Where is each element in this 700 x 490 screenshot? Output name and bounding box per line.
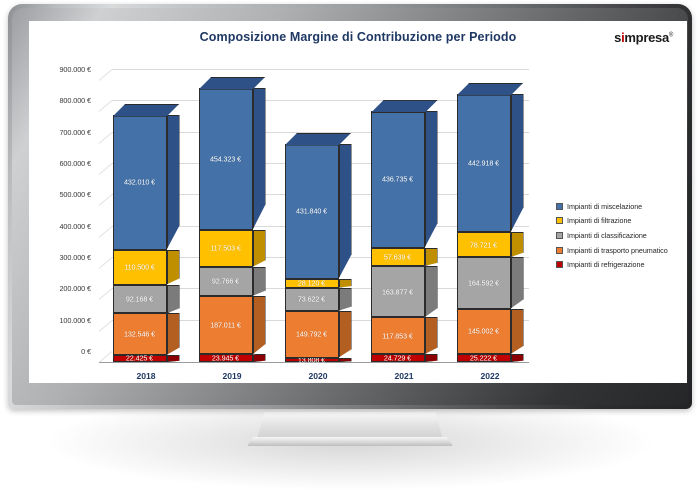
y-axis-tick-label: 100.000 € (29, 316, 91, 325)
y-axis-tick-label: 600.000 € (29, 159, 91, 168)
bar-segment-side-face (511, 309, 524, 354)
bar-segment[interactable]: 454.323 € (199, 88, 253, 230)
monitor-bezel: Composizione Margine di Contribuzione pe… (8, 4, 692, 409)
bar-segment[interactable]: 432.010 € (113, 115, 167, 250)
bar-segment[interactable]: 23.945 € (199, 354, 253, 362)
bar-segment[interactable]: 442.918 € (457, 94, 511, 233)
y-axis-tick-label: 400.000 € (29, 222, 91, 231)
bar-segment-side-face (425, 266, 438, 317)
bar-segment-side-face (253, 88, 266, 230)
bar-segment-value-label: 92.766 € (199, 277, 253, 286)
bar-segment[interactable]: 25.222 € (457, 354, 511, 362)
y-axis-tick-label: 0 € (29, 347, 91, 356)
bar-segment-value-label: 92.168 € (113, 295, 167, 304)
x-axis-category-label: 2019 (197, 371, 267, 381)
bar-segment-side-face (167, 115, 180, 250)
gridline-depth (99, 320, 113, 332)
bar-segment-value-label: 187.011 € (199, 321, 253, 330)
bar-segment-value-label: 454.323 € (199, 154, 253, 163)
bar-segment-side-face (425, 354, 438, 362)
monitor-stand-neck (257, 412, 443, 440)
bar-segment-side-face (511, 354, 524, 362)
gridline-depth (99, 257, 113, 269)
bar-segment-side-face (339, 144, 352, 279)
bar-segment[interactable]: 145.002 € (457, 309, 511, 354)
bar-segment[interactable]: 22.425 € (113, 355, 167, 362)
bar-segment-side-face (511, 257, 524, 309)
bar-segment-value-label: 23.945 € (199, 354, 253, 363)
bar-segment[interactable]: 92.766 € (199, 267, 253, 296)
bar-segment-value-label: 117.853 € (371, 331, 425, 340)
bar-segment-value-label: 117.503 € (199, 244, 253, 253)
bar-segment-side-face (167, 313, 180, 355)
bar-segment-side-face (167, 285, 180, 314)
gridline-depth (99, 163, 113, 175)
bar-segment-value-label: 132.546 € (113, 330, 167, 339)
bar-segment-side-face (339, 279, 352, 288)
bar-segment-value-label: 22.425 € (113, 354, 167, 363)
bar-segment[interactable]: 24.729 € (371, 354, 425, 362)
bar-segment[interactable]: 431.840 € (285, 144, 339, 279)
bar-segment-value-label: 28.120 € (285, 279, 339, 288)
y-axis-tick-label: 700.000 € (29, 128, 91, 137)
bar-segment[interactable]: 13.808 € (285, 358, 339, 362)
bar-segment-value-label: 145.002 € (457, 327, 511, 336)
bar-segment-side-face (253, 267, 266, 296)
legend-item-label: Impianti di refrigerazione (567, 260, 644, 269)
bar-segment[interactable]: 117.503 € (199, 230, 253, 267)
bar-segment-side-face (253, 354, 266, 362)
monitor-screen: Composizione Margine di Contribuzione pe… (29, 21, 687, 383)
legend-item[interactable]: Impianti di miscelazione (556, 199, 668, 214)
bar-segment[interactable]: 92.168 € (113, 285, 167, 314)
bar-segment[interactable]: 163.877 € (371, 266, 425, 317)
bar-segment-side-face (425, 248, 438, 266)
legend-item-label: Impianti di classificazione (567, 231, 647, 240)
bar-segment[interactable]: 436.735 € (371, 111, 425, 248)
bar-segment-value-label: 73.622 € (285, 295, 339, 304)
gridline-depth (99, 69, 113, 81)
gridline-depth (99, 194, 113, 206)
x-axis-category-label: 2018 (111, 371, 181, 381)
legend-item[interactable]: Impianti di refrigerazione (556, 257, 668, 272)
legend-color-swatch (556, 247, 563, 254)
bar-segment-value-label: 57.639 € (371, 252, 425, 261)
bar-segment-side-face (167, 250, 180, 285)
legend-item-label: Impianti di miscelazione (567, 202, 642, 211)
bar-segment-value-label: 164.592 € (457, 278, 511, 287)
y-axis-tick-label: 200.000 € (29, 284, 91, 293)
y-axis-tick-label: 300.000 € (29, 253, 91, 262)
bar-segment[interactable]: 117.853 € (371, 317, 425, 354)
bar-segment[interactable]: 57.639 € (371, 248, 425, 266)
bar-segment-value-label: 436.735 € (371, 175, 425, 184)
bar-segment-value-label: 24.729 € (371, 354, 425, 363)
bar-segment[interactable]: 28.120 € (285, 279, 339, 288)
legend-item[interactable]: Impianti di classificazione (556, 228, 668, 243)
gridline-depth (99, 132, 113, 144)
bar-segment-value-label: 442.918 € (457, 159, 511, 168)
bar-segment-value-label: 431.840 € (285, 207, 339, 216)
bar-segment[interactable]: 149.792 € (285, 311, 339, 358)
legend-color-swatch (556, 232, 563, 239)
bar-segment[interactable]: 78.721 € (457, 232, 511, 257)
bar-segment-side-face (425, 111, 438, 248)
legend-item[interactable]: Impianti di trasporto pneumatico (556, 243, 668, 258)
bar-segment-side-face (511, 232, 524, 257)
legend-color-swatch (556, 203, 563, 210)
bar-segment[interactable]: 187.011 € (199, 296, 253, 355)
x-axis-category-label: 2021 (369, 371, 439, 381)
legend-item-label: Impianti di filtrazione (567, 216, 631, 225)
bar-segment[interactable]: 164.592 € (457, 257, 511, 309)
bar-segment-value-label: 163.877 € (371, 287, 425, 296)
y-axis-tick-label: 800.000 € (29, 96, 91, 105)
legend-item-label: Impianti di trasporto pneumatico (567, 246, 668, 255)
bar-segment-value-label: 432.010 € (113, 178, 167, 187)
legend-item[interactable]: Impianti di filtrazione (556, 214, 668, 229)
gridline-depth (99, 226, 113, 238)
x-axis-category-label: 2020 (283, 371, 353, 381)
gridline (112, 69, 529, 70)
legend-color-swatch (556, 261, 563, 268)
bar-segment[interactable]: 73.622 € (285, 288, 339, 311)
bar-segment-side-face (511, 94, 524, 233)
gridline-depth (99, 100, 113, 112)
bar-segment-side-face (253, 296, 266, 355)
gridline-depth (99, 288, 113, 300)
screenshot-root: Composizione Margine di Contribuzione pe… (0, 0, 700, 487)
bar-segment-side-face (253, 230, 266, 267)
chart-legend: Impianti di miscelazioneImpianti di filt… (556, 199, 668, 272)
bar-segment-value-label: 149.792 € (285, 330, 339, 339)
bar-segment-value-label: 78.721 € (457, 240, 511, 249)
bar-segment-side-face (425, 317, 438, 354)
monitor-stand-base (247, 437, 453, 446)
bar-segment-side-face (339, 288, 352, 311)
bar-segment-side-face (167, 355, 180, 362)
bar-segment-value-label: 110.500 € (113, 263, 167, 272)
bar-segment[interactable]: 132.546 € (113, 313, 167, 355)
bar-segment-side-face (339, 311, 352, 358)
y-axis-tick-label: 500.000 € (29, 190, 91, 199)
legend-color-swatch (556, 217, 563, 224)
bar-segment[interactable]: 110.500 € (113, 250, 167, 285)
x-axis-category-label: 2022 (455, 371, 525, 381)
y-axis-tick-label: 900.000 € (29, 65, 91, 74)
bar-segment-value-label: 25.222 € (457, 354, 511, 363)
